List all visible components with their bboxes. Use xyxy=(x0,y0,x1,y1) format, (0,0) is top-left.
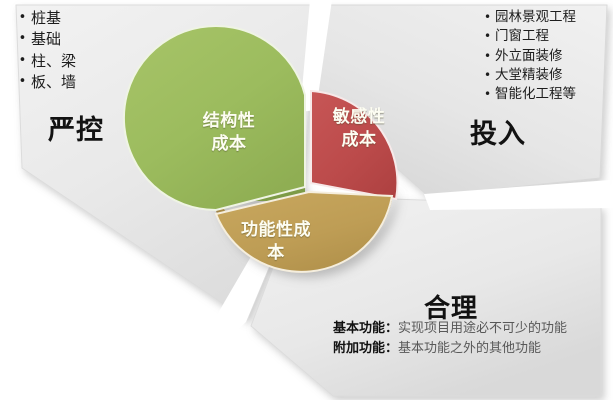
note-additional-function: 附加功能：基本功能之外的其他功能 xyxy=(333,340,583,357)
list-item: • 基础 xyxy=(14,29,204,50)
bullet-icon: • xyxy=(480,27,495,45)
list-item-label: 大堂精装修 xyxy=(495,66,563,85)
list-item: • 园林景观工程 xyxy=(480,8,613,27)
pie-label-functional-line2: 本 xyxy=(215,242,337,265)
bullet-icon: • xyxy=(480,47,495,65)
list-item-label: 园林景观工程 xyxy=(495,8,576,27)
list-item: • 板、墙 xyxy=(14,72,204,93)
diagram-canvas: 结构性 成本 敏感性 成本 功能性成 本 • 桩基 • 基础 • 柱、梁 • 板… xyxy=(0,0,613,400)
list-item-label: 板、墙 xyxy=(31,72,76,93)
bullet-icon: • xyxy=(14,8,31,28)
pie-label-sensitive: 敏感性 成本 xyxy=(318,106,400,152)
list-item: • 智能化工程等 xyxy=(480,85,613,104)
bullet-icon: • xyxy=(14,72,31,92)
note-text: 实现项目用途必不可少的功能 xyxy=(398,321,567,336)
bullet-icon: • xyxy=(14,51,31,71)
pie-label-structural: 结构性 成本 xyxy=(183,110,275,156)
right-panel-bullet-list: • 园林景观工程 • 门窗工程 • 外立面装修 • 大堂精装修 • 智能化工程等 xyxy=(480,8,613,104)
bullet-icon: • xyxy=(480,8,495,26)
left-panel-keyword: 严控 xyxy=(48,108,104,147)
list-item-label: 外立面装修 xyxy=(495,47,563,66)
note-basic-function: 基本功能：实现项目用途必不可少的功能 xyxy=(333,320,583,337)
bullet-icon: • xyxy=(480,66,495,84)
pie-label-sensitive-line2: 成本 xyxy=(318,129,400,152)
note-label: 附加功能： xyxy=(333,341,398,356)
bullet-icon: • xyxy=(14,29,31,49)
pie-label-sensitive-line1: 敏感性 xyxy=(318,106,400,129)
bullet-icon: • xyxy=(480,85,495,103)
list-item-label: 桩基 xyxy=(31,8,61,29)
pie-label-structural-line2: 成本 xyxy=(183,133,275,156)
note-text: 基本功能之外的其他功能 xyxy=(398,341,541,356)
left-panel-bullet-list: • 桩基 • 基础 • 柱、梁 • 板、墙 xyxy=(14,8,204,93)
right-panel-keyword: 投入 xyxy=(470,112,526,151)
list-item: • 桩基 xyxy=(14,8,204,29)
pie-label-functional-line1: 功能性成 xyxy=(215,219,337,242)
list-item-label: 柱、梁 xyxy=(31,51,76,72)
list-item: • 门窗工程 xyxy=(480,27,613,46)
list-item-label: 基础 xyxy=(31,29,61,50)
pie-label-functional: 功能性成 本 xyxy=(215,219,337,265)
list-item: • 大堂精装修 xyxy=(480,66,613,85)
bottom-panel-notes: 基本功能：实现项目用途必不可少的功能 附加功能：基本功能之外的其他功能 xyxy=(333,320,583,360)
list-item-label: 门窗工程 xyxy=(495,27,549,46)
pie-label-structural-line1: 结构性 xyxy=(183,110,275,133)
list-item: • 外立面装修 xyxy=(480,47,613,66)
list-item: • 柱、梁 xyxy=(14,51,204,72)
note-label: 基本功能： xyxy=(333,321,398,336)
list-item-label: 智能化工程等 xyxy=(495,85,576,104)
